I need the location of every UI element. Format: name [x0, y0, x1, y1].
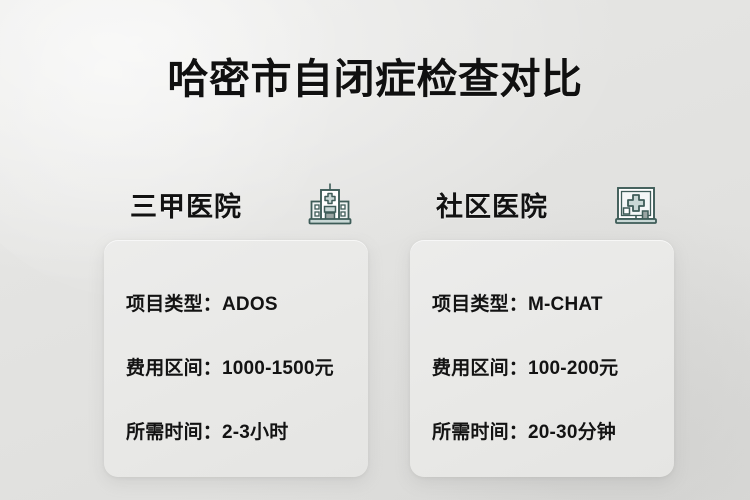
- card-title: 三甲医院: [130, 185, 242, 224]
- card-header: 三甲医院: [104, 168, 368, 240]
- detail-row-text: 所需时间：20-30分钟: [432, 417, 616, 444]
- comparison-infographic: 哈密市自闭症检查对比 三甲医院: [0, 0, 750, 500]
- detail-row-price-range: 费用区间：1000-1500元: [126, 334, 368, 398]
- card-header: 社区医院: [410, 168, 674, 240]
- detail-row-text: 费用区间：1000-1500元: [126, 353, 334, 380]
- card-community-hospital: 社区医院: [410, 168, 674, 477]
- detail-row-item-type: 项目类型：ADOS: [126, 270, 368, 334]
- hospital-building-icon: [306, 180, 354, 228]
- clinic-cross-icon: [612, 180, 660, 228]
- detail-row-text: 费用区间：100-200元: [432, 353, 618, 380]
- detail-row-duration: 所需时间：2-3小时: [126, 398, 368, 462]
- detail-row-item-type: 项目类型：M-CHAT: [432, 270, 674, 334]
- card-detail-panel: 项目类型：M-CHAT 费用区间：100-200元 所需时间：20-30分钟: [410, 240, 674, 477]
- comparison-cards: 三甲医院: [104, 168, 674, 477]
- card-detail-panel: 项目类型：ADOS 费用区间：1000-1500元 所需时间：2-3小时: [104, 240, 368, 477]
- card-title: 社区医院: [436, 185, 548, 224]
- card-tertiary-hospital: 三甲医院: [104, 168, 368, 477]
- detail-row-text: 项目类型：M-CHAT: [432, 289, 603, 316]
- detail-row-duration: 所需时间：20-30分钟: [432, 398, 674, 462]
- detail-row-text: 所需时间：2-3小时: [126, 417, 288, 444]
- page-title: 哈密市自闭症检查对比: [0, 57, 750, 103]
- detail-row-text: 项目类型：ADOS: [126, 289, 278, 316]
- detail-row-price-range: 费用区间：100-200元: [432, 334, 674, 398]
